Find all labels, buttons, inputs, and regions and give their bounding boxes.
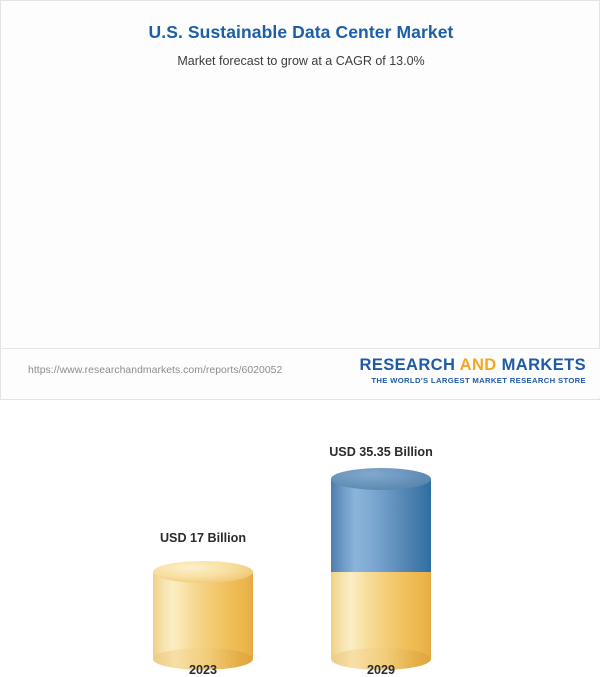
cylinder-segment-base-2023 <box>153 572 253 659</box>
logo-word-markets: MARKETS <box>502 356 586 374</box>
logo-word-research: RESEARCH <box>360 356 456 374</box>
logo-tagline: THE WORLD'S LARGEST MARKET RESEARCH STOR… <box>360 375 587 386</box>
chart-footer: https://www.researchandmarkets.com/repor… <box>2 348 600 398</box>
axis-label-2029: 2029 <box>311 663 451 677</box>
cylinder-top-ellipse-2029 <box>331 468 431 490</box>
cylinder-2029[interactable] <box>331 468 431 659</box>
cylinder-body-fill <box>153 572 253 659</box>
brand-logo[interactable]: RESEARCH AND MARKETS THE WORLD'S LARGEST… <box>360 356 587 386</box>
logo-wordmark: RESEARCH AND MARKETS <box>360 356 587 375</box>
cylinder-body-fill <box>331 479 431 572</box>
bar-value-label-2029: USD 35.35 Billion <box>311 445 451 459</box>
bar-value-label-2023: USD 17 Billion <box>133 531 273 545</box>
cylinder-body-fill <box>331 572 431 659</box>
cylinder-segment-base-2029 <box>331 572 431 659</box>
cylinder-top-ellipse-2023 <box>153 561 253 583</box>
chart-plot-area: USD 17 Billion 2023 USD 35.35 Billion <box>1 1 600 349</box>
axis-label-2023: 2023 <box>133 663 273 677</box>
source-url[interactable]: https://www.researchandmarkets.com/repor… <box>28 365 282 376</box>
cylinder-segment-growth-2029 <box>331 479 431 572</box>
logo-word-and: AND <box>460 356 497 374</box>
chart-card: U.S. Sustainable Data Center Market Mark… <box>0 0 600 400</box>
cylinder-2023[interactable] <box>153 561 253 659</box>
